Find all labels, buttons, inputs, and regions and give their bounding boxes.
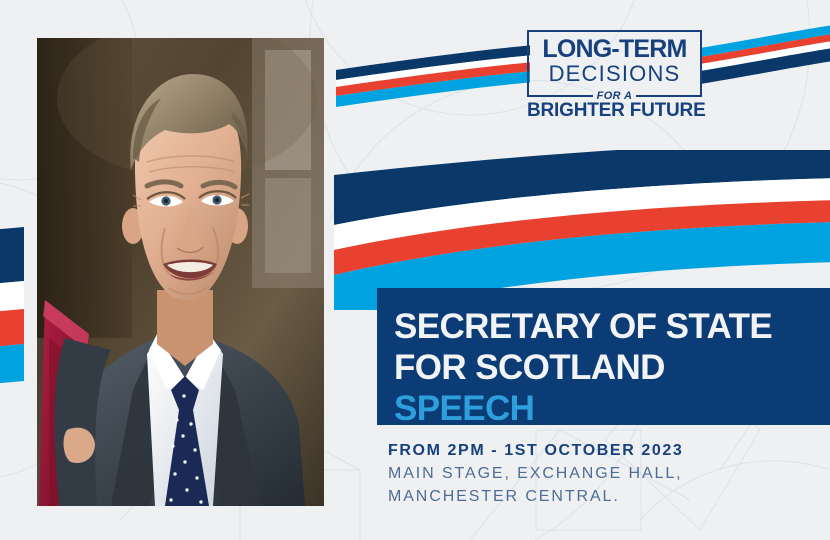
- campaign-logo-box: LONG-TERM DECISIONS: [527, 30, 702, 97]
- headline-line1: SECRETARY OF STATE: [394, 306, 830, 347]
- event-time: FROM 2PM - 1ST OCTOBER 2023: [388, 440, 828, 462]
- poster-canvas: LONG-TERM DECISIONS FOR A BRIGHTER FUTUR…: [0, 0, 830, 540]
- campaign-logo-line1: LONG-TERM: [538, 37, 691, 62]
- speaker-photo: [37, 38, 324, 506]
- headline-line2: FOR SCOTLAND: [394, 347, 830, 388]
- campaign-logo-connector: FOR A: [593, 90, 637, 102]
- campaign-logo-line3: BRIGHTER FUTURE: [527, 101, 702, 121]
- campaign-logo-line2: DECISIONS: [538, 62, 691, 86]
- campaign-logo: LONG-TERM DECISIONS FOR A BRIGHTER FUTUR…: [527, 30, 702, 121]
- rule-right: [641, 95, 695, 97]
- headline-line3-accent: SPEECH: [394, 388, 830, 429]
- headline-panel: SECRETARY OF STATE FOR SCOTLAND SPEECH: [377, 288, 830, 425]
- event-venue-line2: MANCHESTER CENTRAL.: [388, 485, 828, 508]
- campaign-logo-connector-row: FOR A: [527, 90, 702, 102]
- event-venue-line1: MAIN STAGE, EXCHANGE HALL,: [388, 462, 828, 485]
- event-details: FROM 2PM - 1ST OCTOBER 2023 MAIN STAGE, …: [388, 440, 828, 508]
- rule-left: [534, 95, 588, 97]
